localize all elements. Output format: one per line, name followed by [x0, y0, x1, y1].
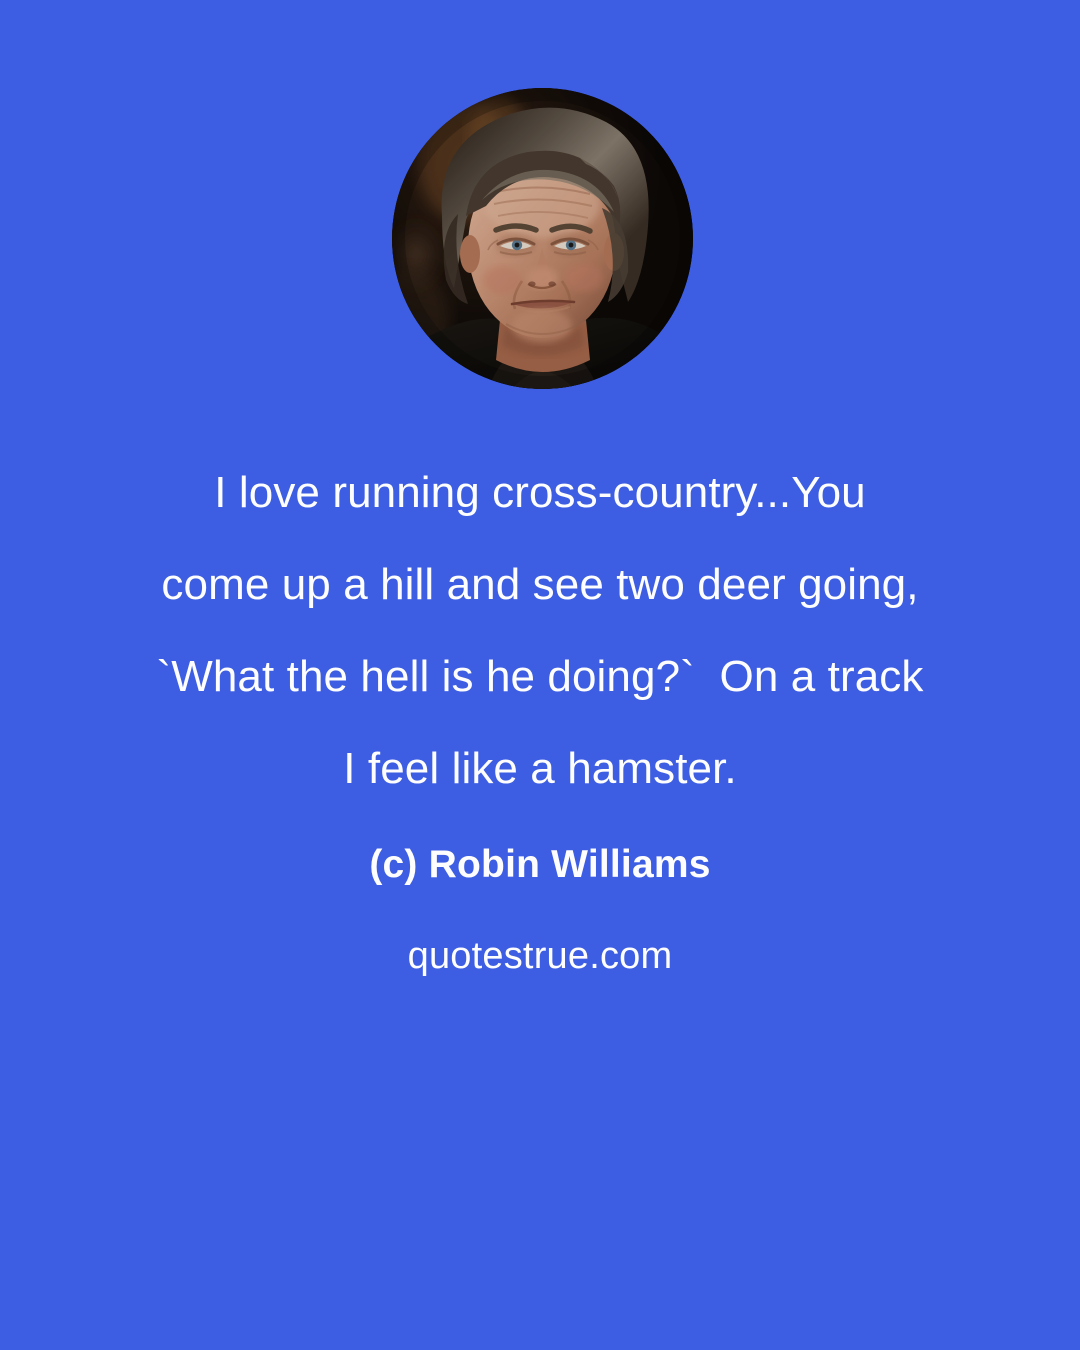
source-website: quotestrue.com	[0, 930, 1080, 982]
quote-line-2: come up a hill and see two deer going,	[64, 539, 1016, 631]
quote-line-1: I love running cross-country...You	[64, 447, 1016, 539]
portrait-photo	[392, 88, 693, 389]
portrait-avatar	[392, 88, 693, 389]
quote-line-3: `What the hell is he doing?` On a track	[64, 631, 1016, 723]
quote-card: I love running cross-country...You come …	[0, 0, 1080, 1350]
quote-attribution: (c) Robin Williams	[0, 838, 1080, 892]
quote-text: I love running cross-country...You come …	[0, 447, 1080, 815]
quote-line-4: I feel like a hamster.	[64, 723, 1016, 815]
